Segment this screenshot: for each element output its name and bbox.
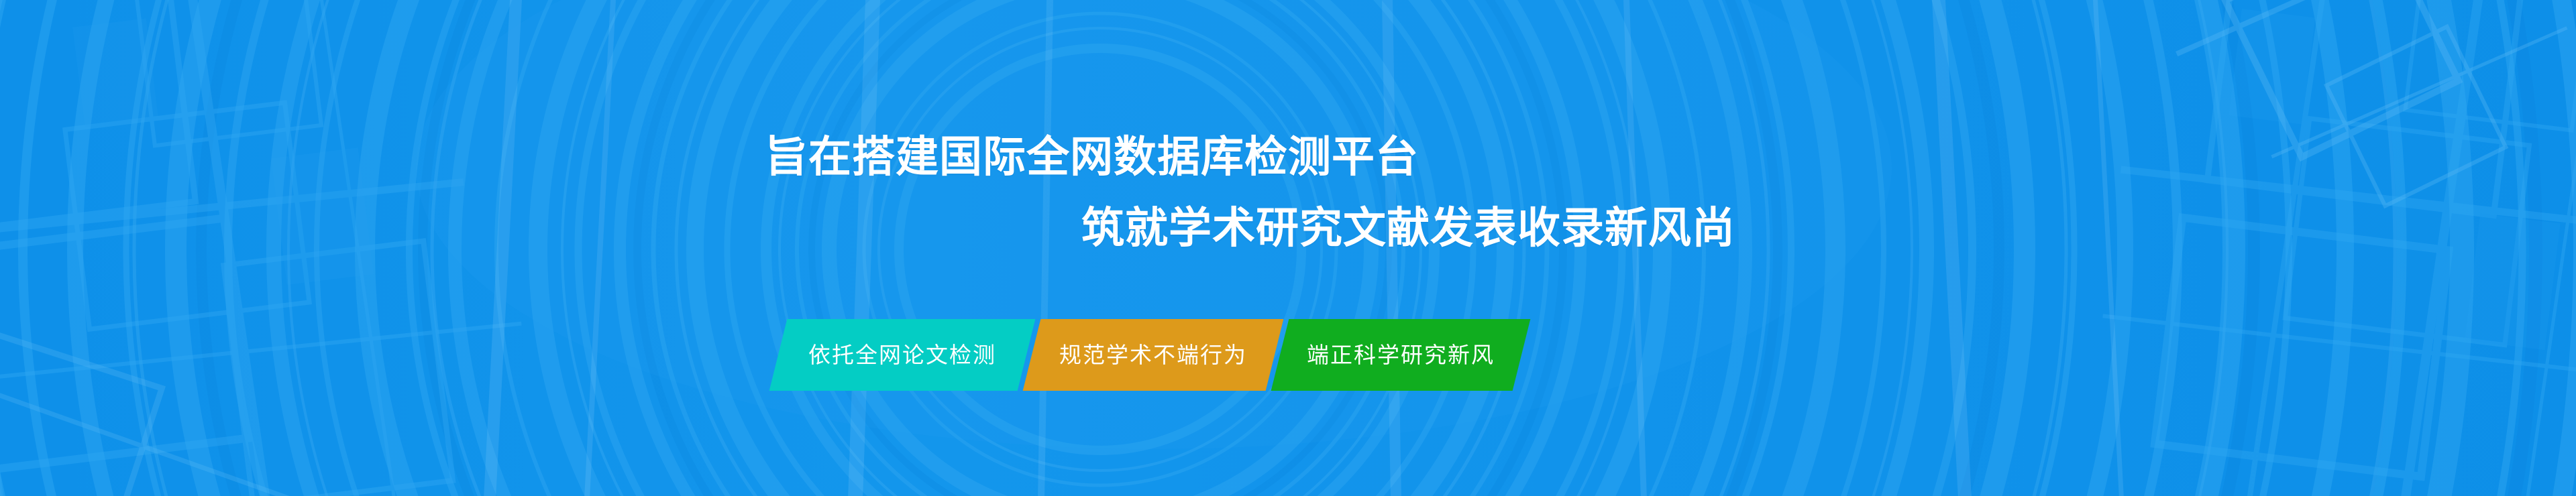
feature-badge-misconduct-regulation[interactable]: 规范学术不端行为 bbox=[1023, 319, 1284, 391]
feature-badge-label: 依托全网论文检测 bbox=[808, 344, 996, 366]
feature-badge-research-integrity[interactable]: 端正科学研究新风 bbox=[1271, 319, 1531, 391]
feature-badge-label: 规范学术不端行为 bbox=[1059, 344, 1247, 366]
headline-line-1: 旨在搭建国际全网数据库检测平台 bbox=[765, 135, 1419, 178]
feature-badge-strip: 依托全网论文检测 规范学术不端行为 端正科学研究新风 bbox=[778, 319, 1521, 391]
promo-banner: 旨在搭建国际全网数据库检测平台 筑就学术研究文献发表收录新风尚 依托全网论文检测… bbox=[0, 0, 2576, 496]
feature-badge-label: 端正科学研究新风 bbox=[1307, 344, 1495, 366]
headline-block: 旨在搭建国际全网数据库检测平台 筑就学术研究文献发表收录新风尚 bbox=[0, 131, 2576, 279]
headline-line-2: 筑就学术研究文献发表收录新风尚 bbox=[1081, 206, 1735, 249]
feature-badge-plagiarism-detection[interactable]: 依托全网论文检测 bbox=[769, 319, 1036, 391]
